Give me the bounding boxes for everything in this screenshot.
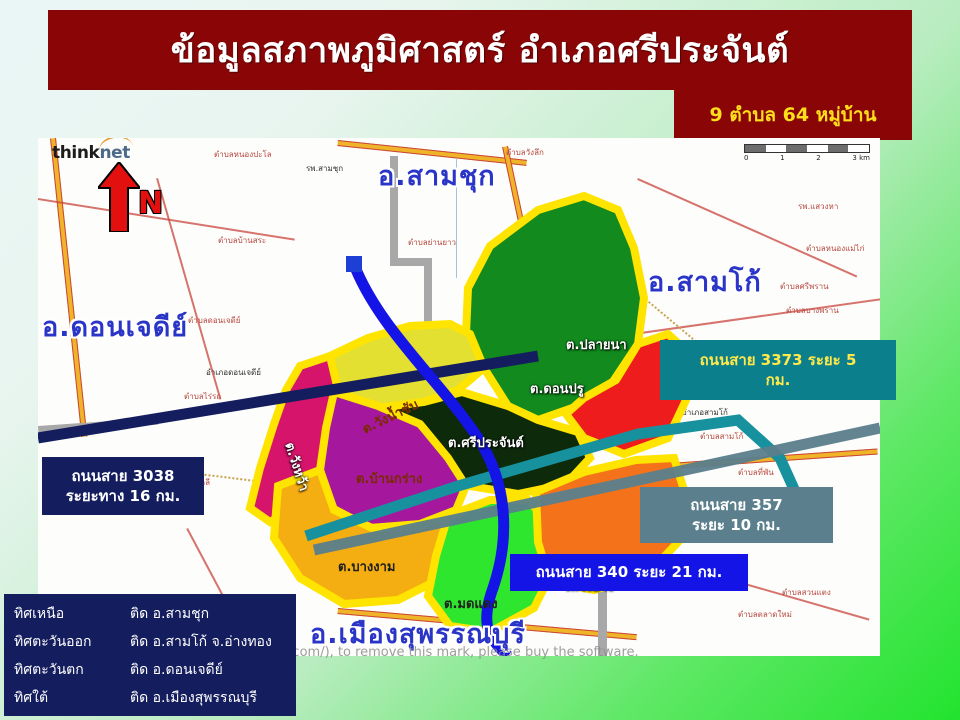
north-letter-label: N — [138, 186, 163, 221]
legend-direction: ทิศตะวันตก — [14, 659, 130, 681]
road-callout-3373-line1: ถนนสาย 3373 ระยะ 5 — [700, 350, 857, 370]
legend-direction: ทิศตะวันออก — [14, 631, 130, 653]
road-callout-357[interactable]: ถนนสาย 357 ระยะ 10 กม. — [640, 487, 833, 543]
road-callout-357-line1: ถนนสาย 357 — [690, 495, 783, 515]
legend-value: ติด อ.สามชุก — [130, 603, 209, 625]
legend-value: ติด อ.เมืองสุพรรณบุรี — [130, 687, 257, 709]
road-callout-3373-line2: กม. — [766, 370, 791, 390]
road-marker-340 — [346, 256, 362, 272]
slide-root: ข้อมูลสภาพภูมิศาสตร์ อำเภอศรีประจันต์ 9 … — [0, 0, 960, 720]
road-callout-3038[interactable]: ถนนสาย 3038 ระยะทาง 16 กม. — [42, 457, 204, 515]
legend-direction: ทิศใต้ — [14, 687, 130, 709]
district-label-samko: อ.สามโก้ — [648, 260, 762, 303]
legend-direction: ทิศเหนือ — [14, 603, 130, 625]
legend-row-north: ทิศเหนือ ติด อ.สามชุก — [4, 600, 296, 628]
boundary-legend-box: ทิศเหนือ ติด อ.สามชุก ทิศตะวันออก ติด อ.… — [4, 594, 296, 716]
road-callout-340[interactable]: ถนนสาย 340 ระยะ 21 กม. — [510, 554, 748, 591]
road-callout-357-line2: ระยะ 10 กม. — [692, 515, 781, 535]
north-arrow-icon — [98, 162, 140, 232]
thinknet-watermark: thinknet — [52, 143, 130, 163]
legend-row-west: ทิศตะวันตก ติด อ.ดอนเจดีย์ — [4, 656, 296, 684]
subtitle-badge: 9 ตำบล 64 หมู่บ้าน — [674, 90, 912, 140]
legend-row-east: ทิศตะวันออก ติด อ.สามโก้ จ.อ่างทอง — [4, 628, 296, 656]
road-line-340 — [353, 262, 508, 656]
thinknet-logo-think: think — [52, 143, 99, 163]
road-callout-3038-line1: ถนนสาย 3038 — [72, 466, 175, 486]
road-callout-3373[interactable]: ถนนสาย 3373 ระยะ 5 กม. — [660, 340, 896, 400]
legend-value: ติด อ.สามโก้ จ.อ่างทอง — [130, 631, 272, 653]
page-title: ข้อมูลสภาพภูมิศาสตร์ อำเภอศรีประจันต์ — [48, 10, 912, 90]
legend-row-south: ทิศใต้ ติด อ.เมืองสุพรรณบุรี — [4, 684, 296, 712]
district-label-donchedi: อ.ดอนเจดีย์ — [42, 305, 188, 348]
road-callout-3038-line2: ระยะทาง 16 กม. — [66, 486, 181, 506]
legend-value: ติด อ.ดอนเจดีย์ — [130, 659, 223, 681]
district-label-samchuk: อ.สามชุก — [378, 154, 496, 197]
software-watermark-text: ools.com/), to remove this mark, please … — [262, 645, 639, 660]
road-callout-340-line1: ถนนสาย 340 ระยะ 21 กม. — [536, 562, 723, 582]
